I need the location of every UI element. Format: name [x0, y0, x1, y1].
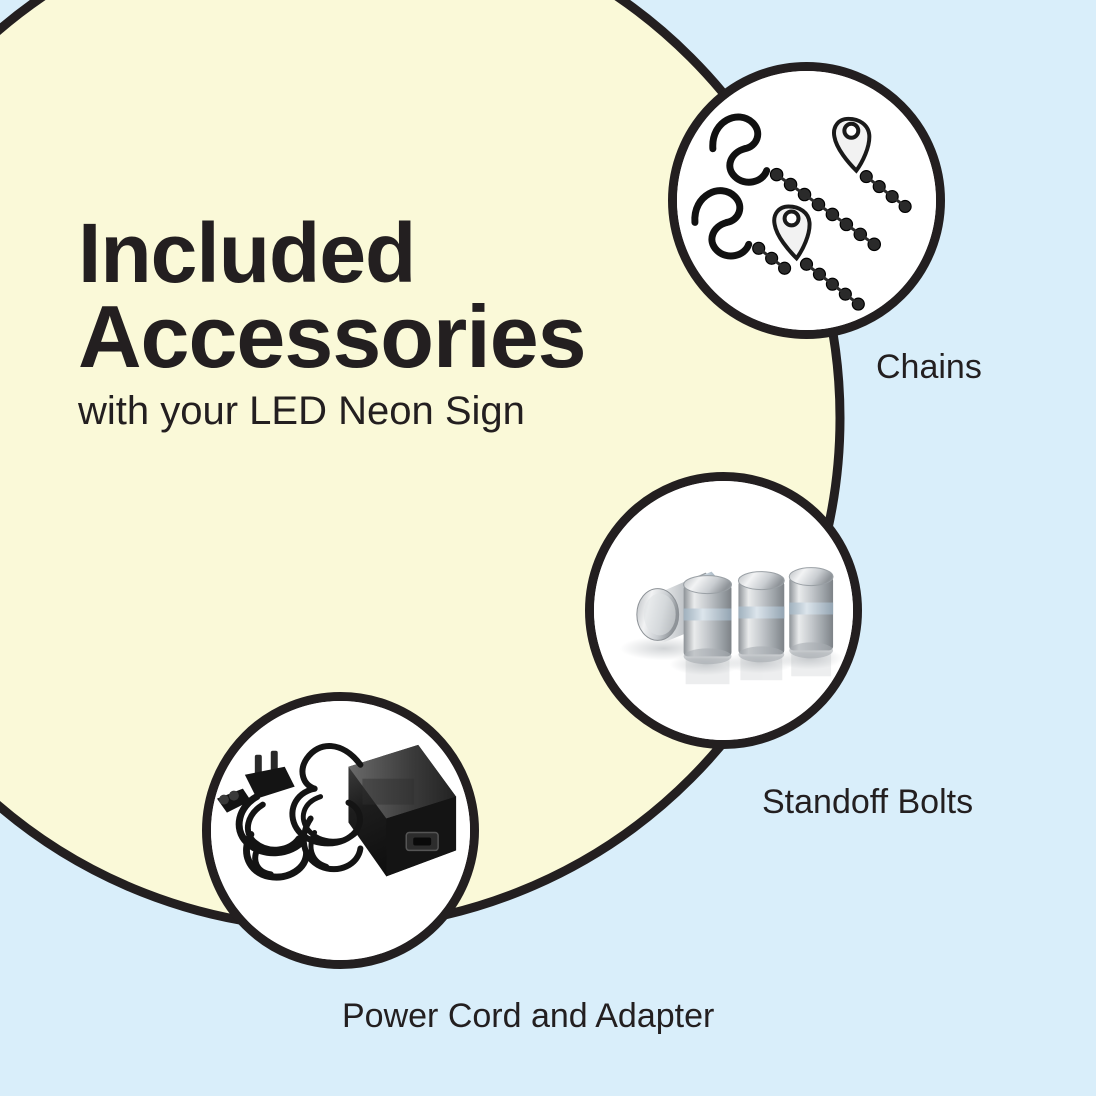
standoff-bolt-2: [738, 572, 784, 663]
headline-block: Included Accessories with your LED Neon …: [78, 212, 698, 434]
power-adapter-photo: [211, 701, 470, 960]
standoff-bolt-1: [684, 576, 732, 665]
power-adapter-photo-circle: [202, 692, 479, 969]
caption-power-cord: Power Cord and Adapter: [342, 997, 714, 1036]
caption-standoff-bolts: Standoff Bolts: [762, 783, 973, 822]
chains-photo-circle: [668, 62, 945, 339]
headline-line-2: Accessories: [78, 294, 698, 380]
headline-subtitle: with your LED Neon Sign: [78, 389, 698, 434]
headline-line-1: Included: [78, 212, 698, 294]
standoff-bolt-3: [789, 568, 833, 659]
standoff-bolts-photo-circle: [585, 472, 862, 749]
chains-photo: [677, 71, 936, 330]
caption-chains: Chains: [876, 348, 982, 387]
included-accessories-infographic: Included Accessories with your LED Neon …: [0, 0, 1096, 1096]
standoff-bolts-photo: [594, 481, 853, 740]
